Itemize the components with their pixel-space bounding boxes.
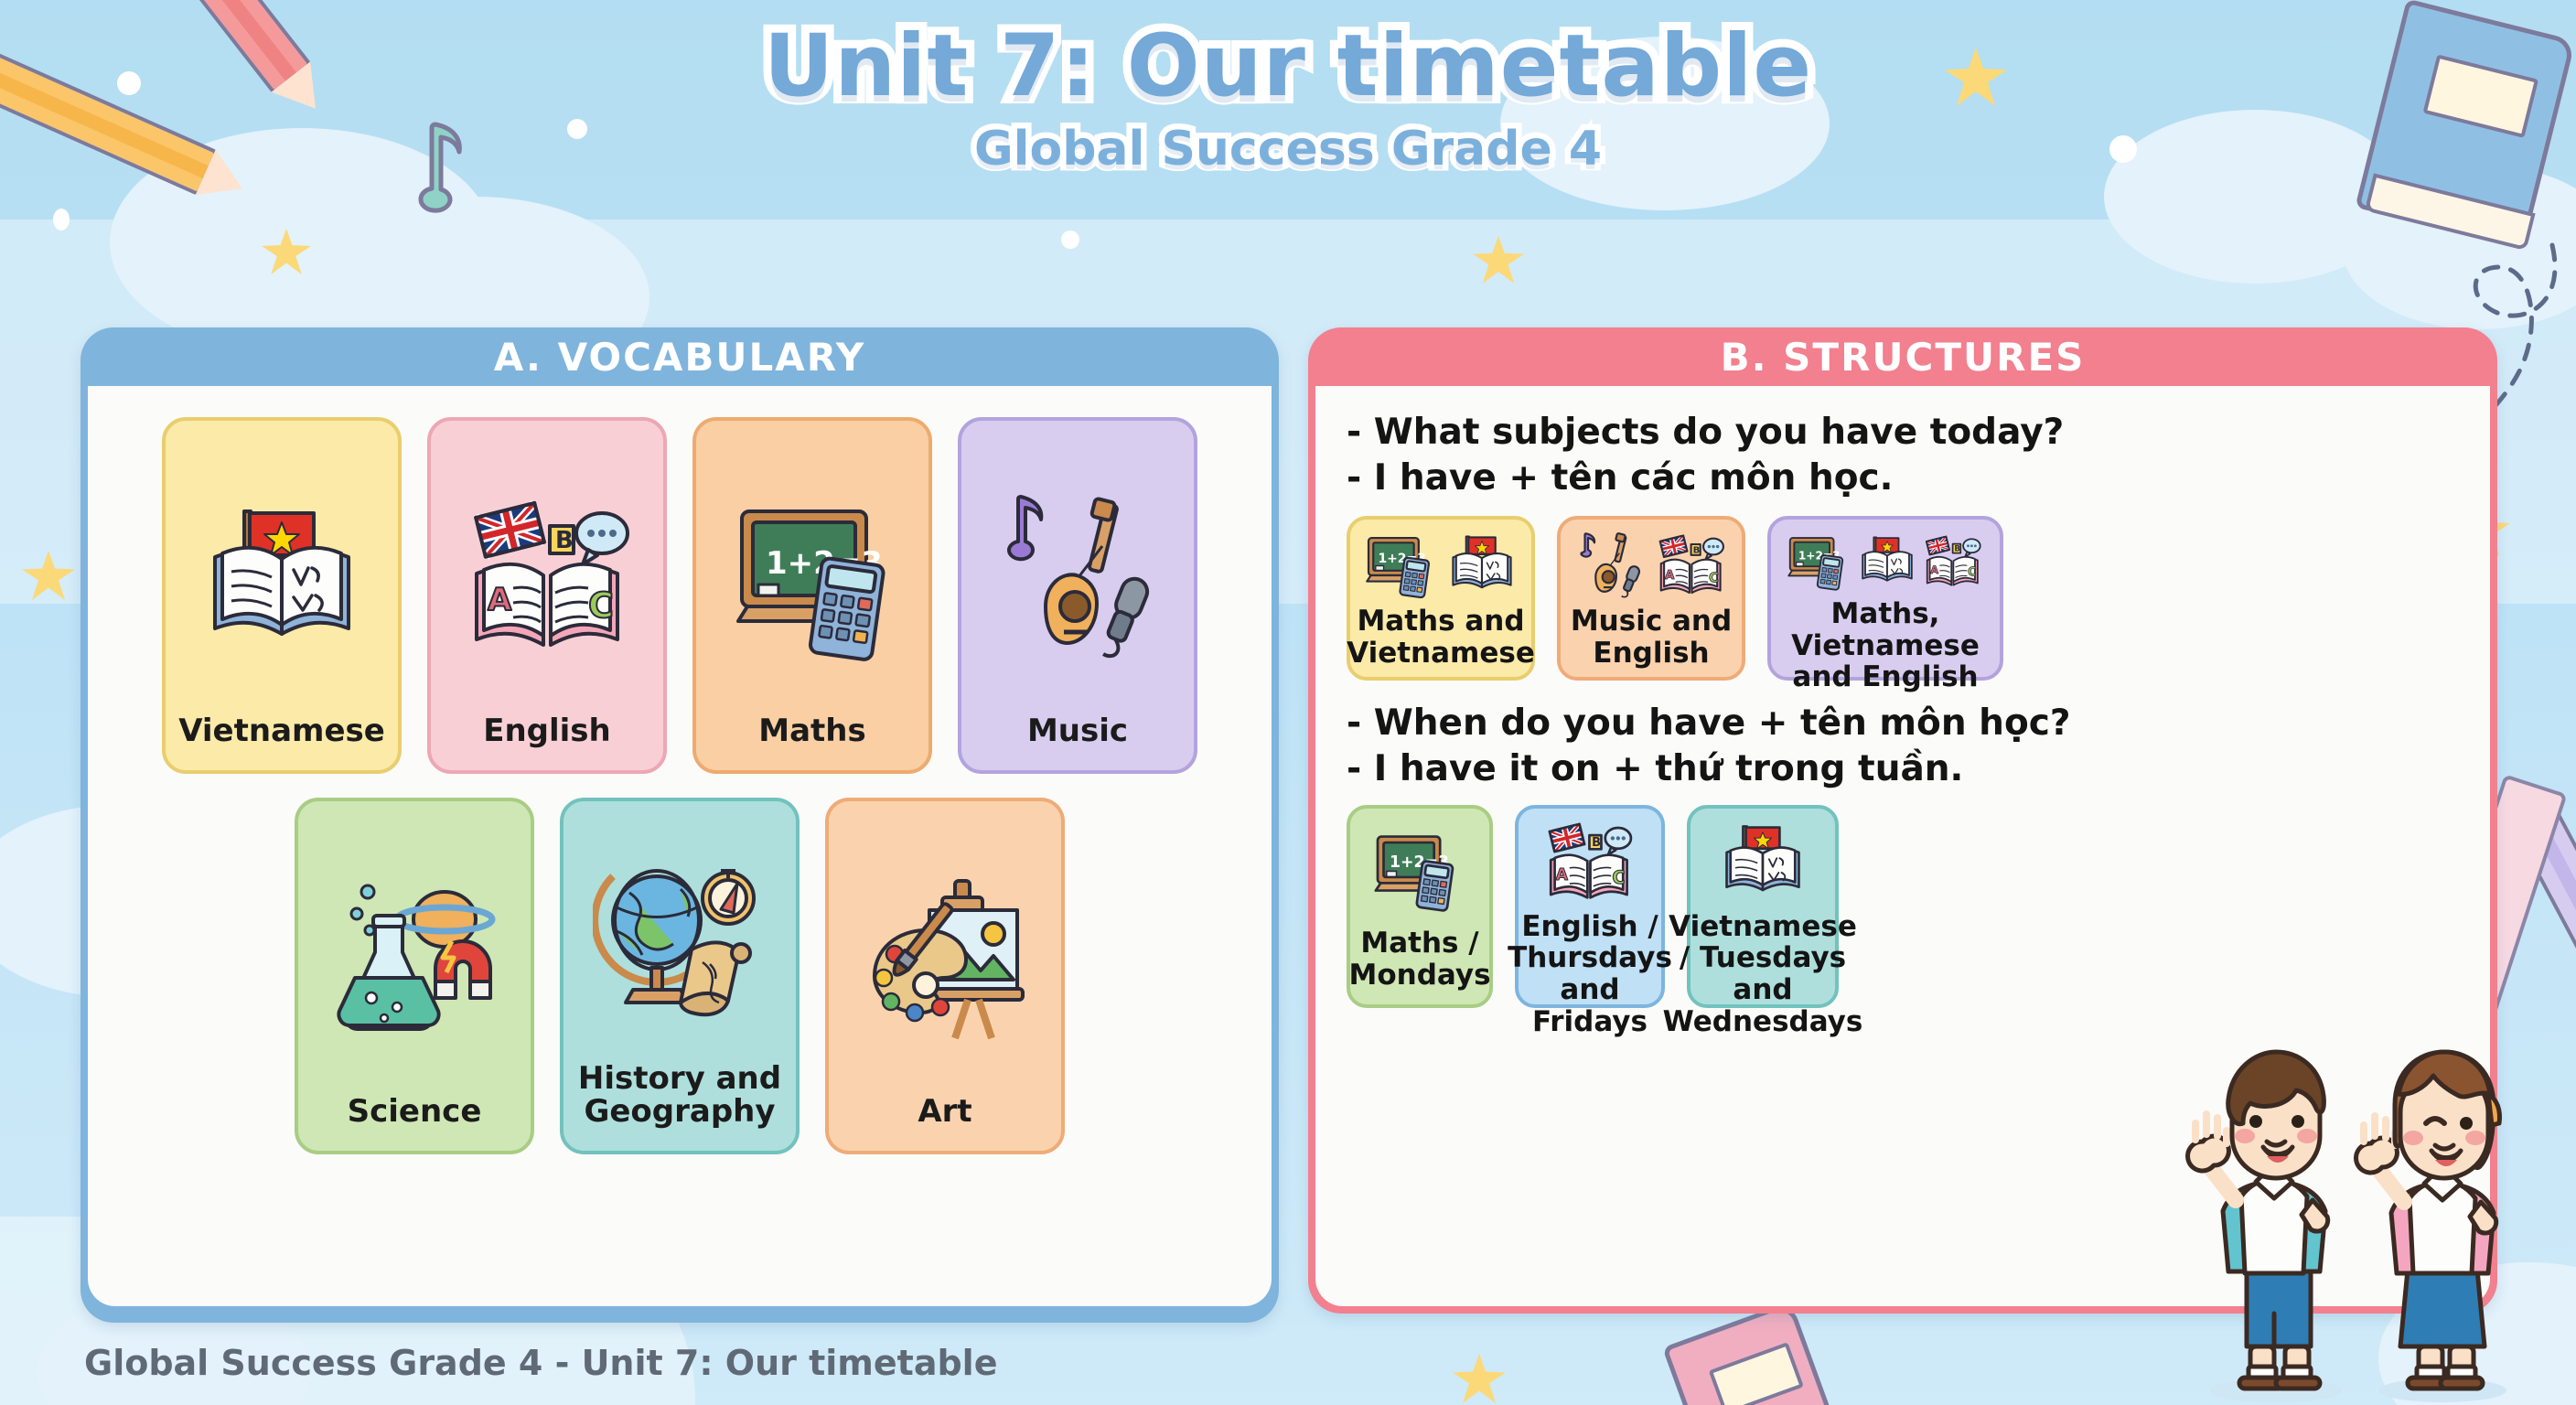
blackboard-calculator-icon: 1+2=3	[1370, 830, 1469, 914]
example-icons: 1+2=3	[1363, 532, 1519, 600]
vocab-card-label: Science	[342, 1095, 488, 1151]
vocab-card-label: Vietnamese	[173, 714, 391, 770]
example-card-english-thursdays-fridays[interactable]: B	[1515, 805, 1665, 1008]
vocabulary-row-1: Vietnamese	[88, 417, 1272, 774]
palette-easel-brush-icon	[829, 818, 1061, 1095]
vocab-card-label: Music	[1022, 714, 1133, 770]
vietnamese-book-flag-icon	[1856, 532, 1918, 593]
example-card-label: Maths and Vietnamese	[1347, 606, 1535, 669]
example-card-maths-mondays[interactable]: 1+2=3	[1347, 805, 1493, 1008]
sky-dot	[53, 209, 70, 231]
pattern2-answer: - I have it on + thứ trong tuần.	[1347, 746, 2459, 792]
blackboard-calculator-icon: 1+2=3	[1787, 532, 1852, 593]
svg-text:C: C	[1709, 569, 1719, 585]
svg-text:B: B	[555, 527, 574, 554]
svg-text:C: C	[1968, 565, 1976, 579]
english-book-uk-flag-icon: B	[431, 437, 663, 714]
example-card-label: Vietnamese / Tuesdays and Wednesdays	[1663, 911, 1863, 1038]
example-icons: 1+2=3	[1370, 821, 1469, 923]
vocab-card-label: English	[478, 714, 617, 770]
star-icon	[1453, 1354, 1506, 1403]
example-card-label: Maths, Vietnamese and English	[1780, 598, 1991, 693]
example-card-label: English / Thursdays and Fridays	[1508, 911, 1672, 1038]
page-subtitle: Global Success Grade 4	[0, 122, 2576, 177]
blackboard-calculator-icon: 1+2=3	[1363, 532, 1442, 600]
pattern1-examples: 1+2=3	[1347, 516, 2459, 681]
svg-text:B: B	[1693, 545, 1701, 555]
guitar-microphone-note-icon	[1574, 532, 1651, 600]
pattern1-answer: - I have + tên các môn học.	[1347, 456, 2459, 501]
page-header: Unit 7: Our timetable Global Success Gra…	[0, 16, 2576, 177]
vietnamese-book-flag-icon	[1445, 532, 1519, 600]
example-card-label: Maths / Mondays	[1348, 928, 1490, 991]
vocab-card-english[interactable]: B	[427, 417, 667, 774]
svg-text:B: B	[1592, 836, 1601, 850]
example-card-label: Music and English	[1570, 606, 1733, 669]
vocab-card-vietnamese[interactable]: Vietnamese	[162, 417, 402, 774]
two-waving-students-illustration	[2168, 1039, 2561, 1405]
example-card-vietnamese-tuesdays-wednesdays[interactable]: Vietnamese / Tuesdays and Wednesdays	[1687, 805, 1839, 1008]
example-card-maths-vietnamese[interactable]: 1+2=3	[1347, 516, 1535, 681]
svg-text:C: C	[588, 585, 614, 626]
example-icons: B	[1574, 532, 1728, 600]
vocabulary-panel: A. VOCABULARY	[80, 327, 1279, 1323]
example-icons	[1717, 821, 1809, 906]
svg-text:C: C	[1612, 867, 1625, 888]
book-label-icon	[1709, 1342, 1804, 1405]
page-title: Unit 7: Our timetable	[0, 16, 2576, 116]
vocab-card-label: History and Geography	[563, 1062, 796, 1151]
vocabulary-body: Vietnamese	[88, 386, 1272, 1306]
vocab-card-science[interactable]: Science	[295, 798, 534, 1154]
vocab-card-art[interactable]: Art	[825, 798, 1065, 1154]
pattern2-examples: 1+2=3	[1347, 805, 2459, 1008]
svg-text:A: A	[1665, 568, 1675, 583]
svg-text:A: A	[1556, 865, 1569, 884]
blackboard-calculator-icon: 1+2=3	[696, 437, 928, 714]
vocab-card-maths[interactable]: 1+2=3	[692, 417, 932, 774]
structures-heading: B. STRUCTURES	[1308, 327, 2497, 386]
english-book-uk-flag-icon: B	[1542, 821, 1637, 906]
svg-text:A: A	[1930, 563, 1938, 576]
example-card-music-english[interactable]: B	[1557, 516, 1745, 681]
globe-scroll-compass-icon	[563, 818, 796, 1062]
footer-caption: Global Success Grade 4 - Unit 7: Our tim…	[84, 1343, 997, 1383]
vocabulary-row-2: Science	[88, 798, 1272, 1154]
example-icons: 1+2=3	[1787, 532, 1984, 593]
book-icon	[1662, 1301, 1851, 1405]
english-book-uk-flag-icon: B	[1655, 532, 1728, 600]
pattern1-question: - What subjects do you have today?	[1347, 410, 2459, 456]
vocab-card-history-geography[interactable]: History and Geography	[560, 798, 800, 1154]
vocab-card-label: Maths	[753, 714, 871, 770]
english-book-uk-flag-icon: B	[1922, 532, 1984, 593]
vietnamese-book-flag-icon	[166, 437, 398, 714]
flask-planet-magnet-icon	[298, 818, 531, 1095]
example-icons: B	[1542, 821, 1637, 906]
svg-text:A: A	[488, 582, 512, 618]
vocab-card-music[interactable]: Music	[958, 417, 1197, 774]
example-card-maths-vietnamese-english[interactable]: 1+2=3	[1767, 516, 2003, 681]
vocab-card-label: Art	[912, 1095, 977, 1151]
vietnamese-book-flag-icon	[1717, 821, 1809, 906]
pattern2-question: - When do you have + tên môn học?	[1347, 701, 2459, 746]
svg-text:B: B	[1954, 544, 1960, 553]
vocabulary-heading: A. VOCABULARY	[80, 327, 1279, 386]
sky-dot	[1061, 231, 1079, 249]
guitar-microphone-note-icon	[961, 437, 1194, 714]
